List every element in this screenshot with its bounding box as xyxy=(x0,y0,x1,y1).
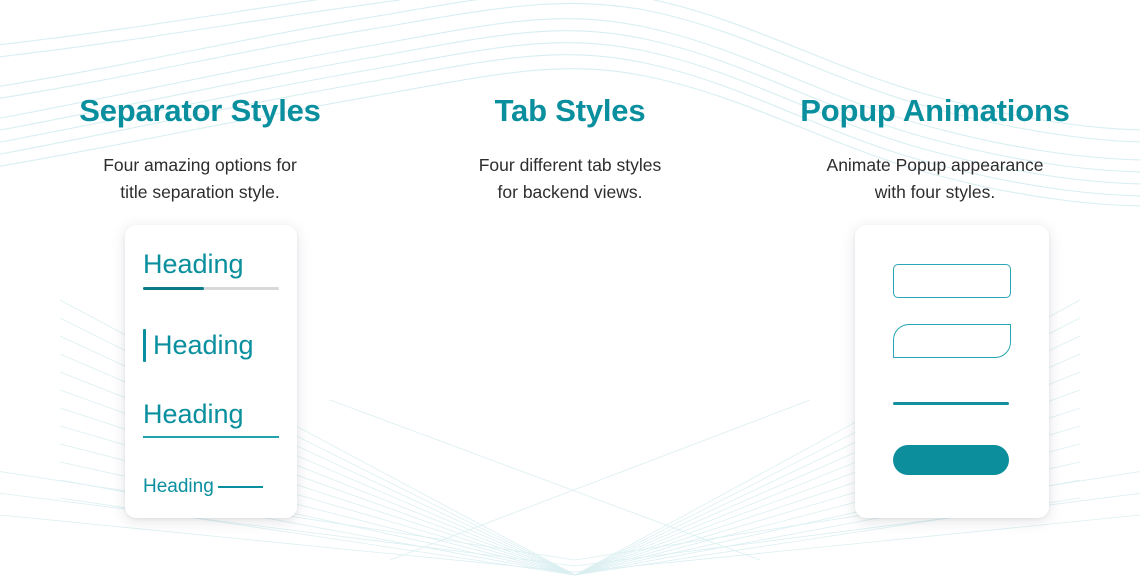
separator-underline-partial xyxy=(143,287,279,290)
subtitle-line: for backend views. xyxy=(380,179,760,206)
subtitle-line: Four amazing options for xyxy=(10,152,390,179)
page-title-tab-styles: Tab Styles xyxy=(380,94,760,128)
column-separator-styles: Separator Styles Four amazing options fo… xyxy=(10,0,390,578)
subtitle-line: with four styles. xyxy=(745,179,1125,206)
subtitle-line: Animate Popup appearance xyxy=(745,152,1125,179)
subtitle-line: title separation style. xyxy=(10,179,390,206)
page-stage: Separator Styles Four amazing options fo… xyxy=(0,0,1140,578)
separator-style-full-underline[interactable]: Heading xyxy=(143,401,279,438)
subtitle-line: Four different tab styles xyxy=(380,152,760,179)
separator-style-list: Heading Heading Heading Heading xyxy=(125,225,297,518)
page-title-separator-styles: Separator Styles xyxy=(10,94,390,128)
separator-style-trailing-rule[interactable]: Heading xyxy=(143,477,263,496)
subtitle-tab-styles: Four different tab styles for backend vi… xyxy=(380,152,760,206)
subtitle-separator-styles: Four amazing options for title separatio… xyxy=(10,152,390,206)
separator-heading-label: Heading xyxy=(143,477,214,496)
separator-heading-label: Heading xyxy=(143,251,279,278)
separator-trailing-rule xyxy=(218,486,263,488)
separator-heading-label: Heading xyxy=(153,332,254,359)
column-tab-styles: Tab Styles Four different tab styles for… xyxy=(380,0,760,578)
column-popup-animations: Popup Animations Animate Popup appearanc… xyxy=(745,0,1125,578)
separator-style-left-bar[interactable]: Heading xyxy=(143,329,254,362)
subtitle-popup-animations: Animate Popup appearance with four style… xyxy=(745,152,1125,206)
separator-style-partial-underline[interactable]: Heading xyxy=(143,251,279,290)
separator-heading-label: Heading xyxy=(143,401,279,428)
separator-vertical-bar xyxy=(143,329,146,362)
separator-underline-full xyxy=(143,436,279,438)
card-separator-preview: Heading Heading Heading Heading xyxy=(125,225,297,518)
page-title-popup-animations: Popup Animations xyxy=(745,94,1125,128)
